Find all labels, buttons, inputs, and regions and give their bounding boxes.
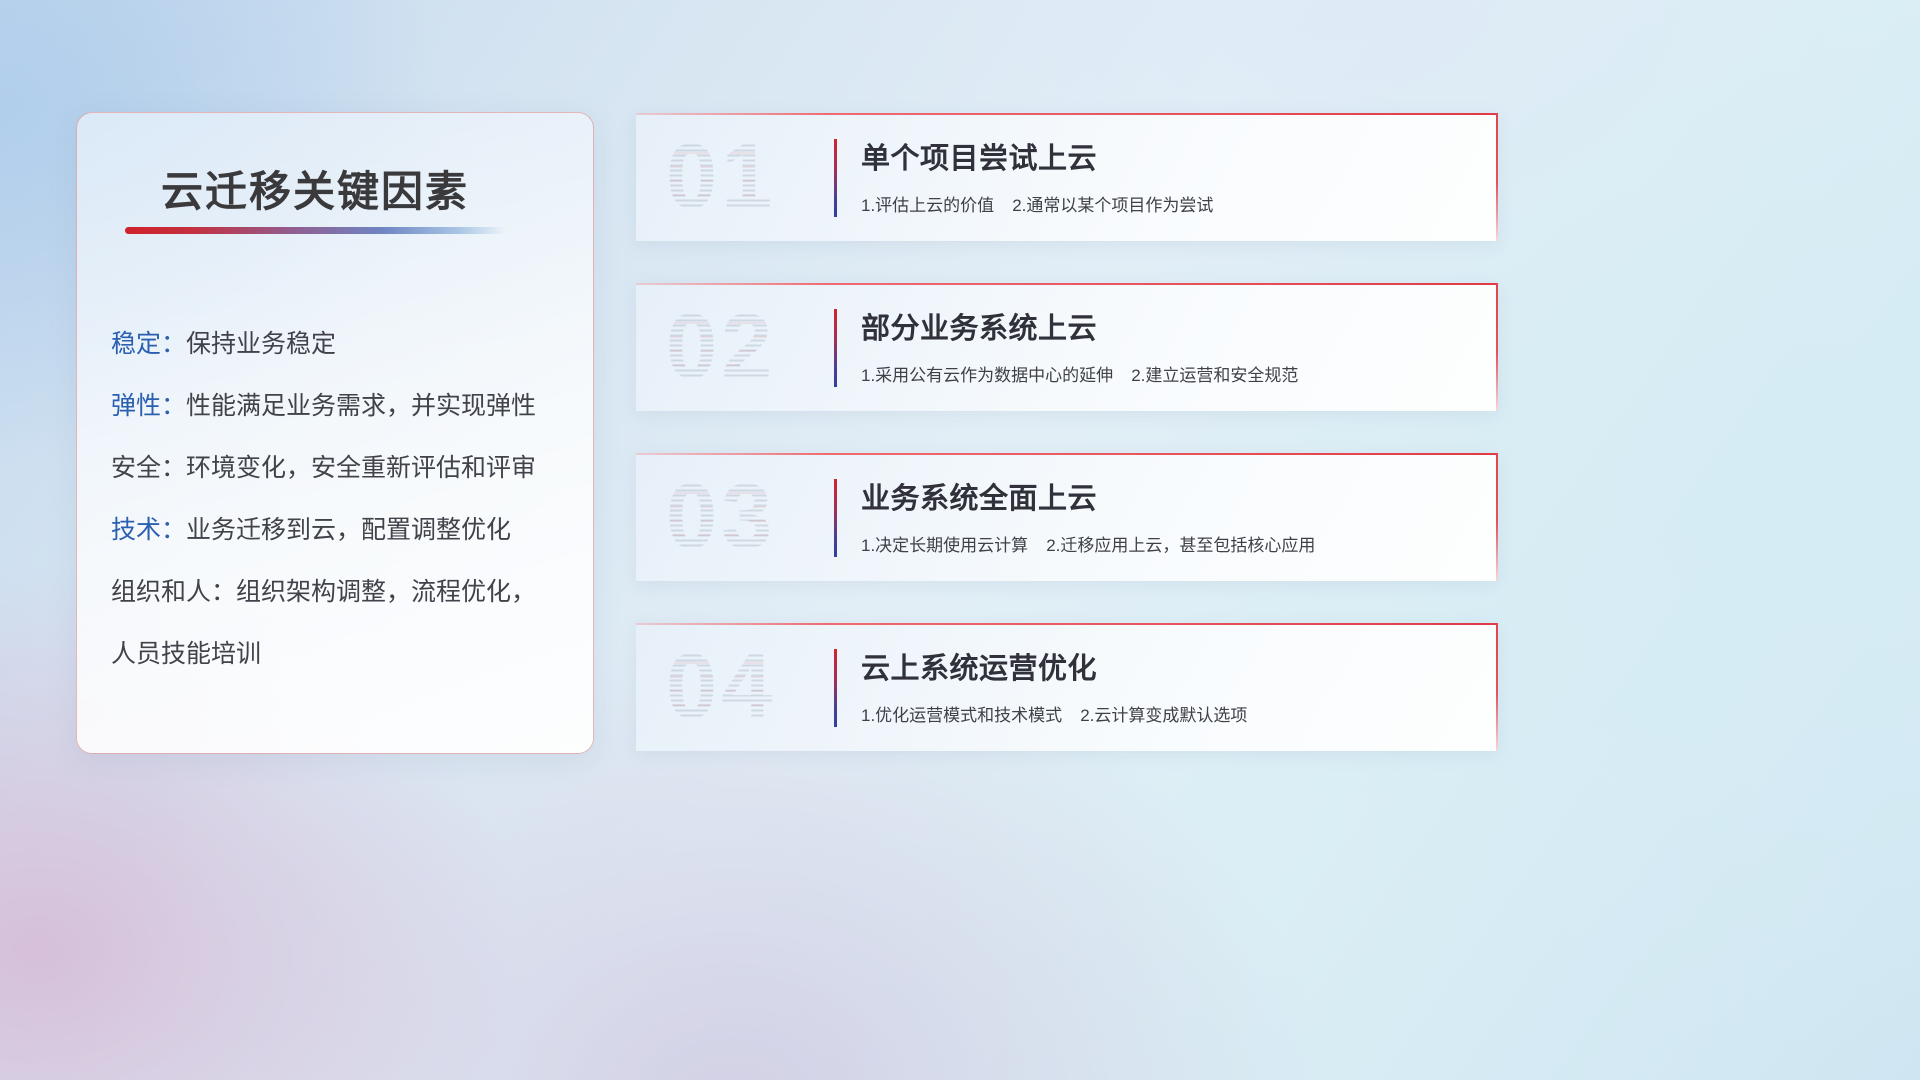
factor-text: 保持业务稳定 bbox=[186, 330, 336, 358]
card-title: 业务系统全面上云 bbox=[861, 475, 1474, 517]
card-description-part-2: 2.建立运营和安全规范 bbox=[1131, 366, 1298, 385]
factor-label: 弹性： bbox=[111, 392, 186, 420]
stage-card-02[interactable]: 02 02 部分业务系统上云 1.采用公有云作为数据中心的延伸2.建立运营和安全… bbox=[636, 283, 1498, 411]
card-description-part-1: 1.采用公有云作为数据中心的延伸 bbox=[861, 366, 1113, 385]
factor-label: 稳定： bbox=[111, 330, 186, 358]
stage-number-watermark: 03 bbox=[666, 465, 776, 570]
slide-canvas: 云迁移关键因素 稳定：保持业务稳定 弹性：性能满足业务需求，并实现弹性 安全：环… bbox=[0, 0, 1920, 1080]
stage-card-04[interactable]: 04 04 云上系统运营优化 1.优化运营模式和技术模式2.云计算变成默认选项 bbox=[636, 623, 1498, 751]
stage-card-03[interactable]: 03 03 业务系统全面上云 1.决定长期使用云计算2.迁移应用上云，甚至包括核… bbox=[636, 453, 1498, 581]
title-underline-accent bbox=[125, 227, 505, 234]
factor-label: 安全： bbox=[111, 454, 186, 482]
list-item: 人员技能培训 bbox=[111, 623, 581, 685]
stage-number-watermark: 02 bbox=[666, 295, 776, 400]
factor-text: 环境变化，安全重新评估和评审 bbox=[186, 454, 536, 482]
factor-text: 人员技能培训 bbox=[111, 640, 261, 668]
card-accent-divider bbox=[834, 309, 837, 387]
key-factors-panel: 云迁移关键因素 稳定：保持业务稳定 弹性：性能满足业务需求，并实现弹性 安全：环… bbox=[76, 112, 594, 754]
page-title: 云迁移关键因素 bbox=[161, 158, 469, 219]
factors-list: 稳定：保持业务稳定 弹性：性能满足业务需求，并实现弹性 安全：环境变化，安全重新… bbox=[111, 313, 581, 685]
card-description-part-1: 1.决定长期使用云计算 bbox=[861, 536, 1028, 555]
factor-label: 组织和人： bbox=[111, 578, 236, 606]
stage-number-watermark: 04 bbox=[666, 635, 776, 740]
factor-text: 组织架构调整，流程优化， bbox=[236, 578, 536, 606]
list-item: 安全：环境变化，安全重新评估和评审 bbox=[111, 437, 581, 499]
factor-label: 技术： bbox=[111, 516, 186, 544]
card-accent-divider bbox=[834, 479, 837, 557]
card-accent-divider bbox=[834, 139, 837, 217]
stage-card-01[interactable]: 01 01 单个项目尝试上云 1.评估上云的价值2.通常以某个项目作为尝试 bbox=[636, 113, 1498, 241]
list-item: 组织和人：组织架构调整，流程优化， bbox=[111, 561, 581, 623]
card-accent-divider bbox=[834, 649, 837, 727]
factor-text: 业务迁移到云，配置调整优化 bbox=[186, 516, 511, 544]
stage-number-watermark: 01 bbox=[666, 125, 776, 230]
card-description: 1.评估上云的价值2.通常以某个项目作为尝试 bbox=[861, 191, 1474, 216]
list-item: 稳定：保持业务稳定 bbox=[111, 313, 581, 375]
list-item: 技术：业务迁移到云，配置调整优化 bbox=[111, 499, 581, 561]
card-title: 单个项目尝试上云 bbox=[861, 135, 1474, 177]
factor-text: 性能满足业务需求，并实现弹性 bbox=[186, 392, 536, 420]
card-description: 1.采用公有云作为数据中心的延伸2.建立运营和安全规范 bbox=[861, 361, 1474, 386]
card-description-part-2: 2.云计算变成默认选项 bbox=[1080, 706, 1247, 725]
card-description: 1.决定长期使用云计算2.迁移应用上云，甚至包括核心应用 bbox=[861, 531, 1474, 556]
card-title: 云上系统运营优化 bbox=[861, 645, 1474, 687]
card-text-block: 单个项目尝试上云 1.评估上云的价值2.通常以某个项目作为尝试 bbox=[861, 135, 1474, 216]
stages-card-list: 01 01 单个项目尝试上云 1.评估上云的价值2.通常以某个项目作为尝试 02… bbox=[636, 113, 1498, 793]
card-description: 1.优化运营模式和技术模式2.云计算变成默认选项 bbox=[861, 701, 1474, 726]
card-description-part-1: 1.评估上云的价值 bbox=[861, 196, 994, 215]
card-text-block: 业务系统全面上云 1.决定长期使用云计算2.迁移应用上云，甚至包括核心应用 bbox=[861, 475, 1474, 556]
card-title: 部分业务系统上云 bbox=[861, 305, 1474, 347]
card-description-part-1: 1.优化运营模式和技术模式 bbox=[861, 706, 1062, 725]
card-text-block: 云上系统运营优化 1.优化运营模式和技术模式2.云计算变成默认选项 bbox=[861, 645, 1474, 726]
card-description-part-2: 2.通常以某个项目作为尝试 bbox=[1012, 196, 1213, 215]
card-description-part-2: 2.迁移应用上云，甚至包括核心应用 bbox=[1046, 536, 1315, 555]
card-text-block: 部分业务系统上云 1.采用公有云作为数据中心的延伸2.建立运营和安全规范 bbox=[861, 305, 1474, 386]
list-item: 弹性：性能满足业务需求，并实现弹性 bbox=[111, 375, 581, 437]
